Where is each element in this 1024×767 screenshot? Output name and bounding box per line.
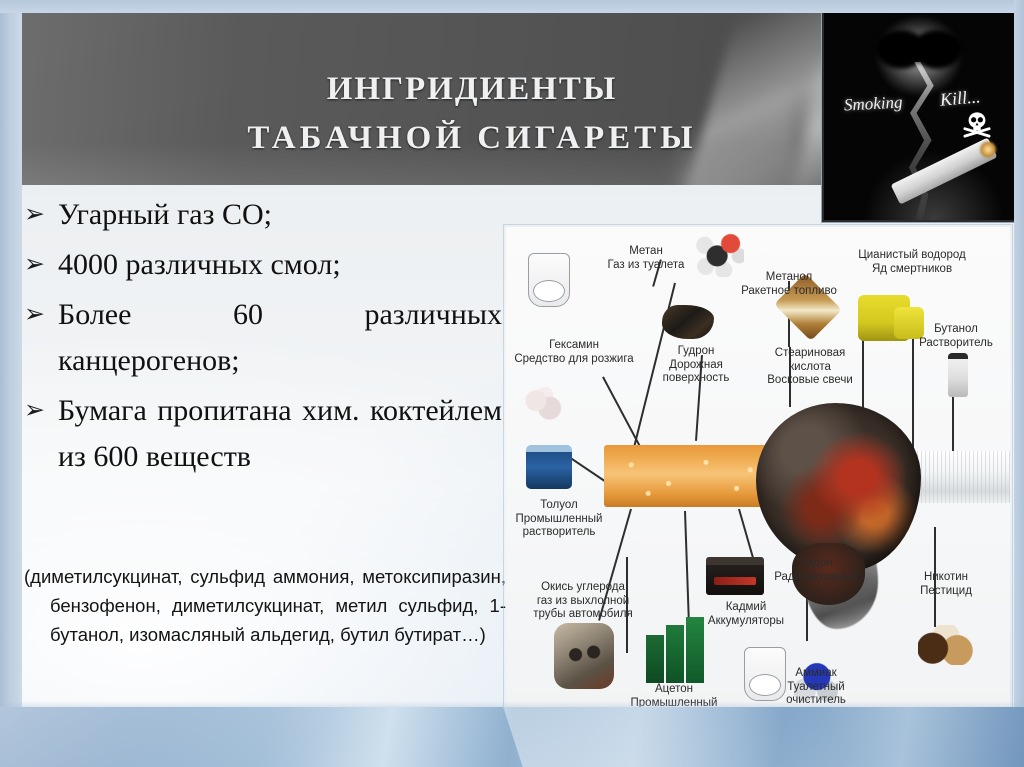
label-use: Аккумуляторы bbox=[698, 615, 794, 629]
list-item-label: Угарный газ СО; bbox=[58, 192, 502, 238]
leader-line bbox=[602, 377, 641, 448]
diagram-label-carbon-monoxide: Окись углерода газ из выхлопной трубы ав… bbox=[522, 581, 644, 622]
skull-and-crossbones-icon bbox=[962, 110, 992, 138]
poster-text-kill: Kill... bbox=[939, 86, 981, 110]
smoking-kill-poster: Smoking Kill... bbox=[822, 8, 1016, 222]
toluol-drum-icon bbox=[526, 445, 572, 489]
list-item-label: 4000 различных смол; bbox=[58, 242, 502, 288]
list-item: ➢ 4000 различных смол; bbox=[24, 242, 502, 288]
list-item: ➢ Бумага пропитана хим. коктейлем из 600… bbox=[24, 388, 502, 480]
label-name: Кадмий bbox=[698, 601, 794, 615]
label-name: Цианистый водород bbox=[844, 249, 980, 263]
frame-top-edge bbox=[0, 0, 1024, 13]
tar-lump-icon bbox=[662, 305, 714, 339]
cigarette-filter bbox=[604, 445, 774, 507]
label-name: Стеариновая кислота bbox=[758, 347, 862, 374]
smoke-skull-icon bbox=[876, 16, 962, 96]
list-item: ➢ Более 60 различных канцерогенов; bbox=[24, 292, 502, 384]
diseased-lung-image bbox=[756, 403, 921, 571]
poster-glow bbox=[864, 150, 1004, 220]
bullet-arrow-icon: ➢ bbox=[24, 292, 58, 336]
label-use: Дорожная поверхность bbox=[636, 359, 756, 386]
diagram-label-butanol: Бутанол Растворитель bbox=[908, 323, 1004, 350]
label-name: Аммиак bbox=[772, 667, 860, 681]
diagram-label-tar: Гудрон Дорожная поверхность bbox=[636, 345, 756, 386]
diagram-label-methane: Метан Газ из туалета bbox=[586, 245, 706, 272]
hexamine-tablets-icon bbox=[524, 387, 564, 421]
label-use: Ракетное топливо bbox=[738, 285, 840, 299]
title-line-1: ИНГРИДИЕНТЫ bbox=[142, 65, 802, 114]
diagram-label-nicotine: Никотин Пестицид bbox=[904, 571, 988, 598]
chemicals-note: (диметилсукцинат, сульфид аммония, меток… bbox=[24, 562, 506, 649]
diagram-label-toluol: Толуол Промышленный растворитель bbox=[506, 499, 612, 540]
label-use: Промышленный растворитель bbox=[506, 513, 612, 540]
acetone-bottles-icon bbox=[646, 613, 706, 683]
diagram-label-hydrogen-cyanide: Цианистый водород Яд смертников bbox=[844, 249, 980, 276]
cadmium-battery-icon bbox=[706, 557, 764, 595]
label-use: Средство для розжига bbox=[512, 353, 636, 367]
leader-line bbox=[684, 511, 690, 629]
label-use: Пестицид bbox=[904, 585, 988, 599]
bottom-decorative-band bbox=[0, 707, 1024, 767]
list-item-label: Более 60 различных канцерогенов; bbox=[58, 292, 502, 384]
list-item-label: Бумага пропитана хим. коктейлем из 600 в… bbox=[58, 388, 502, 480]
title-line-2: ТАБАЧНОЙ СИГАРЕТЫ bbox=[142, 114, 802, 163]
label-use: Радиоактивный bbox=[768, 571, 864, 585]
ingredients-bullet-list: ➢ Угарный газ СО; ➢ 4000 различных смол;… bbox=[24, 192, 502, 484]
slide: ИНГРИДИЕНТЫ ТАБАЧНОЙ СИГАРЕТЫ Smoking Ki… bbox=[0, 0, 1024, 767]
label-name: Гексамин bbox=[512, 339, 636, 353]
gas-mask-icon bbox=[554, 623, 614, 689]
label-use: Газ из туалета bbox=[586, 259, 706, 273]
page-title: ИНГРИДИЕНТЫ ТАБАЧНОЙ СИГАРЕТЫ bbox=[142, 65, 802, 163]
bullet-arrow-icon: ➢ bbox=[24, 388, 58, 432]
diagram-label-cadmium: Кадмий Аккумуляторы bbox=[698, 601, 794, 628]
label-use: Растворитель bbox=[908, 337, 1004, 351]
label-use: Восковые свечи bbox=[758, 374, 862, 388]
label-name: Бутанол bbox=[908, 323, 1004, 337]
label-name: Окись углерода bbox=[522, 581, 644, 595]
chemicals-note-text: (диметилсукцинат, сульфид аммония, меток… bbox=[24, 562, 506, 649]
cyanide-canisters-icon bbox=[858, 295, 910, 341]
label-name: Ацетон bbox=[622, 683, 726, 697]
list-item: ➢ Угарный газ СО; bbox=[24, 192, 502, 238]
cigarette-ingredients-diagram: Метан Газ из туалета Гексамин Средство д… bbox=[506, 227, 1010, 721]
frame-right-edge bbox=[1014, 0, 1024, 767]
label-name: Гудрон bbox=[636, 345, 756, 359]
tobacco-nicotine-icon bbox=[918, 625, 974, 665]
label-name: Никотин bbox=[904, 571, 988, 585]
butanol-bottle-icon bbox=[948, 353, 968, 397]
label-use: Яд смертников bbox=[844, 263, 980, 277]
label-use: газ из выхлопной трубы автомобиля bbox=[522, 595, 644, 622]
bullet-arrow-icon: ➢ bbox=[24, 242, 58, 286]
label-name: Толуол bbox=[506, 499, 612, 513]
poster-text-smoking: Smoking bbox=[844, 92, 904, 115]
frame-left-edge bbox=[0, 0, 22, 767]
label-name: Метанол bbox=[738, 271, 840, 285]
label-name: Радон bbox=[768, 557, 864, 571]
diagram-label-stearic-acid: Стеариновая кислота Восковые свечи bbox=[758, 347, 862, 388]
diagram-label-hexamine: Гексамин Средство для розжига bbox=[512, 339, 636, 366]
bullet-arrow-icon: ➢ bbox=[24, 192, 58, 236]
label-name: Метан bbox=[586, 245, 706, 259]
diagram-label-methanol: Метанол Ракетное топливо bbox=[738, 271, 840, 298]
diagram-label-radon: Радон Радиоактивный bbox=[768, 557, 864, 584]
toilet-icon bbox=[528, 253, 570, 307]
